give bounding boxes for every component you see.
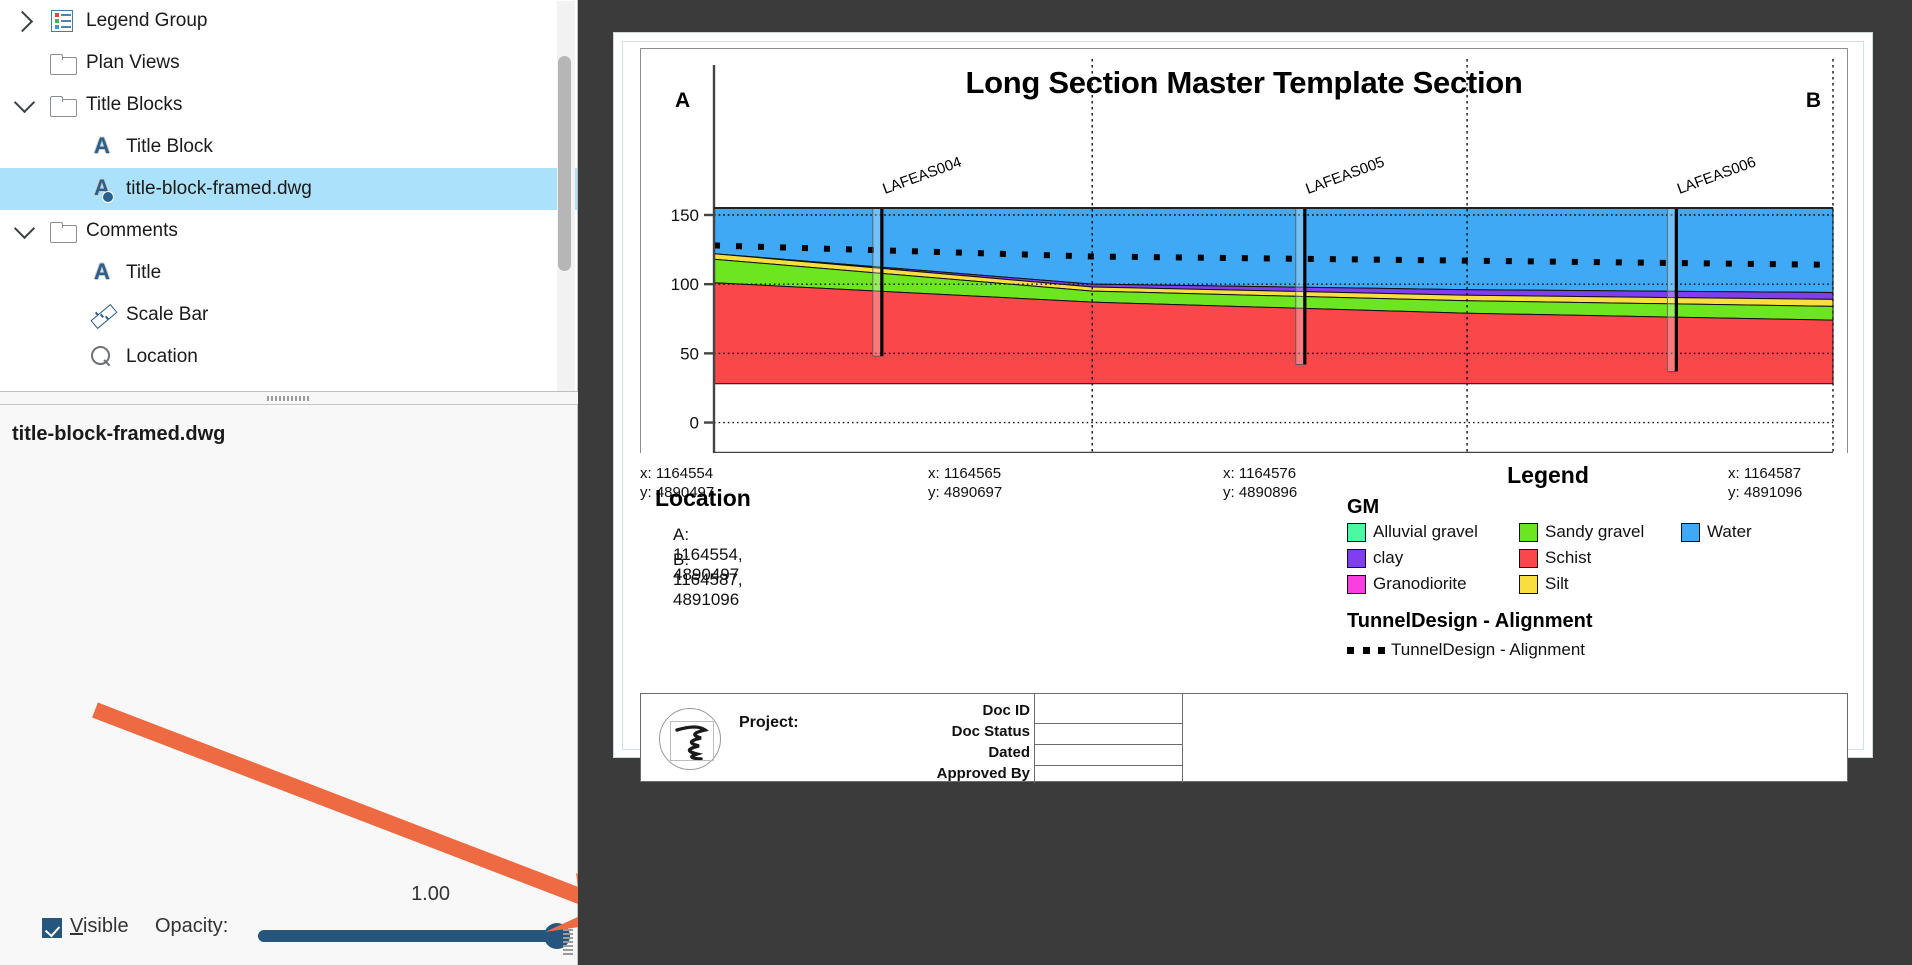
legend-item: Water: [1681, 522, 1752, 542]
tree-item-comments[interactable]: Comments: [0, 210, 577, 252]
title-block-field-label: Doc ID: [982, 702, 1030, 719]
y-axis-tick-label: 100: [671, 275, 699, 294]
tree-item-label: Location: [126, 346, 198, 368]
visible-label: Visible: [70, 915, 129, 938]
tree-item-label: Title: [126, 262, 161, 284]
station-coordinate: x: 1164576y: 4890896: [1223, 465, 1297, 503]
squiggle-logo-icon: [671, 722, 714, 761]
tree-item-label: Title Blocks: [86, 94, 182, 116]
tree-scrollbar-thumb[interactable]: [558, 56, 571, 271]
text-object-icon: A: [94, 261, 110, 285]
tree-twisty-spacer: [4, 252, 44, 294]
title-block: Project: Doc IDDoc StatusDatedApproved B…: [640, 693, 1848, 782]
company-logo: [659, 708, 721, 770]
tree-item-title-block[interactable]: ATitle Block: [0, 126, 577, 168]
legend-item: Schist: [1519, 548, 1591, 568]
y-axis-tick-label: 0: [690, 414, 699, 433]
legend-item: Sandy gravel: [1519, 522, 1644, 542]
legend-swatch: [1519, 575, 1538, 594]
legend-group-title: GM: [1347, 496, 1379, 519]
tree-item-title-block-framed-dwg[interactable]: Atitle-block-framed.dwg: [0, 168, 577, 210]
text-object-icon: A: [94, 135, 110, 159]
title-block-divider-2: [1182, 694, 1183, 783]
legend-swatch: [1681, 523, 1700, 542]
folder-icon: [50, 54, 75, 73]
properties-header: title-block-framed.dwg: [12, 423, 225, 446]
legend-title: Legend: [1323, 462, 1773, 489]
y-axis-tick-label: 50: [680, 344, 699, 363]
station-y: y: 4890896: [1223, 484, 1297, 503]
tree-twisty-spacer: [4, 42, 44, 84]
legend-item: Alluvial gravel: [1347, 522, 1478, 542]
long-section-plot: LAFEAS004LAFEAS005LAFEAS006050100150: [641, 49, 1849, 453]
object-tree-panel[interactable]: Legend GroupPlan ViewsTitle BlocksATitle…: [0, 0, 578, 392]
legend-label: Water: [1707, 522, 1752, 542]
station-x: x: 1164554: [640, 465, 714, 484]
sheet-outer-frame: Long Section Master Template Section A B…: [613, 32, 1873, 758]
tree-twisty-spacer: [4, 294, 44, 336]
visible-checkbox[interactable]: [42, 918, 62, 938]
station-coordinate: x: 1164565y: 4890697: [928, 465, 1002, 503]
linked-drawing-icon: A: [94, 177, 110, 201]
alignment-legend-item: TunnelDesign - Alignment: [1347, 640, 1585, 660]
dotted-line-key-icon: [1347, 641, 1385, 660]
legend-swatch: [1347, 523, 1366, 542]
opacity-slider-track[interactable]: [258, 930, 558, 942]
magnifier-icon: [91, 346, 113, 368]
legend-item: clay: [1347, 548, 1403, 568]
scale-bar-icon: [90, 303, 114, 327]
title-block-field-label: Dated: [988, 744, 1030, 761]
properties-scroll-grip[interactable]: [563, 925, 573, 955]
title-block-field-value[interactable]: [1034, 765, 1182, 786]
tree-twisty-spacer: [4, 336, 44, 378]
legend-label: clay: [1373, 548, 1403, 568]
panel-splitter[interactable]: [0, 392, 578, 404]
logo-image: [670, 721, 714, 761]
tree-item-label: Comments: [86, 220, 178, 242]
legend-group-icon: [51, 10, 73, 32]
splitter-grip[interactable]: [267, 396, 311, 401]
station-x: x: 1164576: [1223, 465, 1297, 484]
tree-item-label: title-block-framed.dwg: [126, 178, 312, 200]
opacity-value: 1.00: [0, 883, 450, 906]
legend-label: Schist: [1545, 548, 1591, 568]
long-section-chart: Long Section Master Template Section A B…: [640, 48, 1848, 453]
tree-item-legend-group[interactable]: Legend Group: [0, 0, 577, 42]
visible-label-text: isible: [83, 915, 129, 937]
tree-twisty-spacer: [4, 168, 44, 210]
location-title: Location: [655, 485, 751, 512]
station-y: y: 4890697: [928, 484, 1002, 503]
tree-item-label: Title Block: [126, 136, 213, 158]
alignment-group-title: TunnelDesign - Alignment: [1347, 610, 1593, 633]
tree-scrollbar-track[interactable]: [557, 1, 575, 391]
tree-item-title[interactable]: ATitle: [0, 252, 577, 294]
chevron-right-icon[interactable]: [4, 0, 44, 42]
location-value: 1164587, 4891096: [673, 570, 743, 609]
folder-icon: [50, 222, 75, 241]
tree-item-label: Scale Bar: [126, 304, 208, 326]
folder-icon: [50, 96, 75, 115]
tree-rows: Legend GroupPlan ViewsTitle BlocksATitle…: [0, 0, 577, 378]
tree-item-plan-views[interactable]: Plan Views: [0, 42, 577, 84]
title-block-field-value[interactable]: [1034, 744, 1182, 765]
properties-panel: title-block-framed.dwg 1.00 Visible Opac…: [0, 404, 578, 965]
opacity-label: Opacity:: [155, 915, 228, 938]
title-block-field-label: Doc Status: [952, 723, 1030, 740]
legend-swatch: [1347, 575, 1366, 594]
legend-label: Alluvial gravel: [1373, 522, 1478, 542]
legend-swatch: [1347, 549, 1366, 568]
location-row: B:1164587, 4891096: [673, 550, 743, 610]
legend-item: Granodiorite: [1347, 574, 1467, 594]
alignment-legend-label: TunnelDesign - Alignment: [1391, 640, 1585, 660]
chevron-down-icon[interactable]: [4, 84, 44, 126]
sheet: Long Section Master Template Section A B…: [622, 41, 1864, 750]
tree-item-title-blocks[interactable]: Title Blocks: [0, 84, 577, 126]
legend-block: Legend GM Alluvial gravelSandy gravelWat…: [1323, 462, 1853, 677]
tree-item-label: Plan Views: [86, 52, 180, 74]
tree-item-scale-bar[interactable]: Scale Bar: [0, 294, 577, 336]
legend-label: Granodiorite: [1373, 574, 1467, 594]
title-block-field-value[interactable]: [1034, 702, 1182, 723]
drawing-viewer[interactable]: Long Section Master Template Section A B…: [578, 0, 1912, 965]
location-key: B:: [673, 550, 703, 570]
legend-item: Silt: [1519, 574, 1569, 594]
tree-twisty-spacer: [4, 126, 44, 168]
left-panel: Legend GroupPlan ViewsTitle BlocksATitle…: [0, 0, 578, 965]
location-key: A:: [673, 525, 703, 545]
tree-item-label: Legend Group: [86, 10, 208, 32]
title-block-field-label: Approved By: [937, 765, 1030, 782]
title-block-field-value[interactable]: [1034, 723, 1182, 744]
y-axis-tick-label: 150: [671, 206, 699, 225]
chevron-down-icon[interactable]: [4, 210, 44, 252]
station-x: x: 1164565: [928, 465, 1002, 484]
legend-label: Sandy gravel: [1545, 522, 1644, 542]
legend-swatch: [1519, 549, 1538, 568]
project-label: Project:: [739, 714, 799, 732]
legend-swatch: [1519, 523, 1538, 542]
tree-item-location[interactable]: Location: [0, 336, 577, 378]
legend-label: Silt: [1545, 574, 1569, 594]
